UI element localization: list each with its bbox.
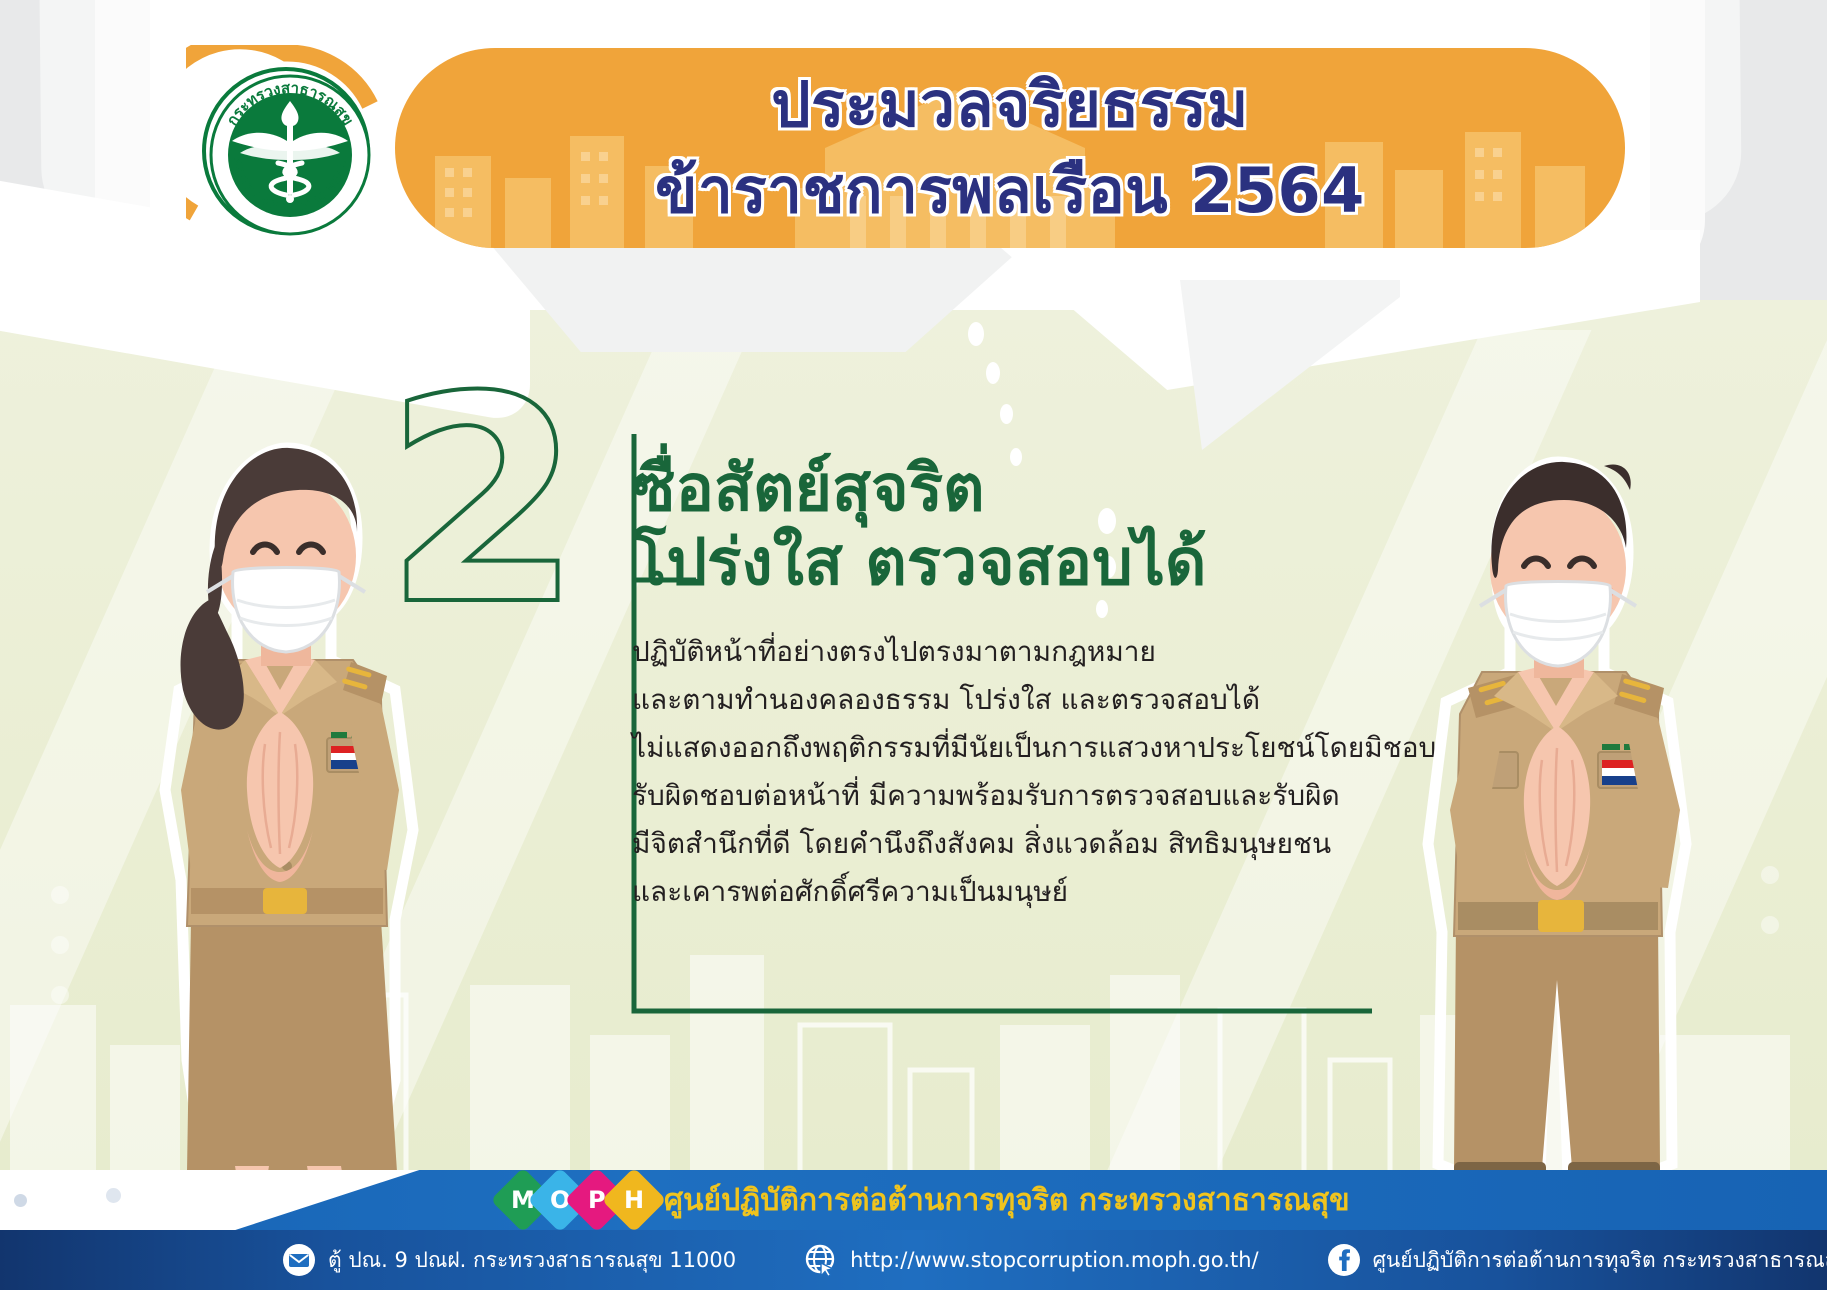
bubble-dot-3 — [1000, 404, 1013, 424]
header-title-group: ประมวลจริยธรรม ข้าราชการพลเรือน 2564 — [395, 62, 1625, 234]
bubble-dot-2 — [986, 362, 1000, 384]
main-body-paragraph: ปฏิบัติหน้าที่อย่างตรงไปตรงมาตามกฎหมาย แ… — [632, 628, 1402, 916]
contact-item-facebook[interactable]: ศูนย์ปฏิบัติการต่อต้านการทุจริต กระทรวงส… — [1327, 1243, 1827, 1277]
male-officer-illustration — [1372, 380, 1732, 1180]
moph-caption: ศูนย์ปฏิบัติการต่อต้านการทุจริต กระทรวงส… — [664, 1177, 1350, 1224]
globe-cursor-icon — [804, 1243, 838, 1277]
body-line: และเคารพต่อศักดิ์ศรีความเป็นมนุษย์ — [632, 868, 1402, 916]
envelope-icon — [282, 1243, 316, 1277]
body-line: ไม่แสดงออกถึงพฤติกรรมที่มีนัยเป็นการแสวง… — [632, 724, 1402, 772]
footer-moph-group: M O P H ศูนย์ปฏิบัติการต่อต้านการทุจริต … — [500, 1170, 1350, 1230]
seal-disc: กระทรวงสาธารณสุข MINISTRY OF PUBLIC HEAL… — [202, 67, 370, 235]
moph-seal-icon: กระทรวงสาธารณสุข MINISTRY OF PUBLIC HEAL… — [206, 71, 374, 239]
moph-letter-h-text: H — [624, 1186, 644, 1214]
contact-facebook-text: ศูนย์ปฏิบัติการต่อต้านการทุจริต กระทรวงส… — [1373, 1244, 1827, 1277]
header-banner: ประมวลจริยธรรม ข้าราชการพลเรือน 2564 — [395, 48, 1625, 248]
body-line: มีจิตสำนึกที่ดี โดยคำนึงถึงสังคม สิ่งแวด… — [632, 820, 1402, 868]
moph-logo: M O P H — [500, 1177, 648, 1223]
contact-item-website[interactable]: http://www.stopcorruption.moph.go.th/ — [804, 1243, 1259, 1277]
contact-website-text: http://www.stopcorruption.moph.go.th/ — [850, 1248, 1259, 1272]
bubble-dot-1 — [968, 322, 984, 346]
main-heading-line-2: โปร่งใส ตรวจสอบได้ — [632, 526, 1402, 600]
moph-letter-h: H — [601, 1170, 666, 1230]
female-officer-illustration — [95, 360, 455, 1180]
footer-bubble-2 — [106, 1188, 121, 1203]
body-line: และตามทำนองคลองธรรม โปร่งใส และตรวจสอบได… — [632, 676, 1402, 724]
facebook-icon — [1327, 1243, 1361, 1277]
main-heading-line-1: ซื่อสัตย์สุจริต — [632, 452, 1402, 526]
footer-band-white-curve — [0, 1170, 450, 1230]
header-title-line-2: ข้าราชการพลเรือน 2564 — [395, 148, 1625, 234]
poster-canvas: ประมวลจริยธรรม ข้าราชการพลเรือน 2564 — [0, 0, 1827, 1290]
footer-moph-band: M O P H ศูนย์ปฏิบัติการต่อต้านการทุจริต … — [0, 1170, 1827, 1230]
main-content: ซื่อสัตย์สุจริต โปร่งใส ตรวจสอบได้ ปฏิบั… — [632, 452, 1402, 916]
footer-bubble-1 — [14, 1194, 27, 1207]
footer-contact-bar: ตู้ ปณ. 9 ปณฝ. กระทรวงสาธารณสุข 11000 ht… — [0, 1230, 1827, 1290]
body-line: ปฏิบัติหน้าที่อย่างตรงไปตรงมาตามกฎหมาย — [632, 628, 1402, 676]
body-line: รับผิดชอบต่อหน้าที่ มีความพร้อมรับการตรว… — [632, 772, 1402, 820]
contact-item-mail[interactable]: ตู้ ปณ. 9 ปณฝ. กระทรวงสาธารณสุข 11000 — [282, 1243, 736, 1277]
ministry-seal: กระทรวงสาธารณสุข MINISTRY OF PUBLIC HEAL… — [186, 45, 386, 255]
contact-mail-text: ตู้ ปณ. 9 ปณฝ. กระทรวงสาธารณสุข 11000 — [328, 1244, 736, 1277]
header-title-line-1: ประมวลจริยธรรม — [395, 62, 1625, 148]
